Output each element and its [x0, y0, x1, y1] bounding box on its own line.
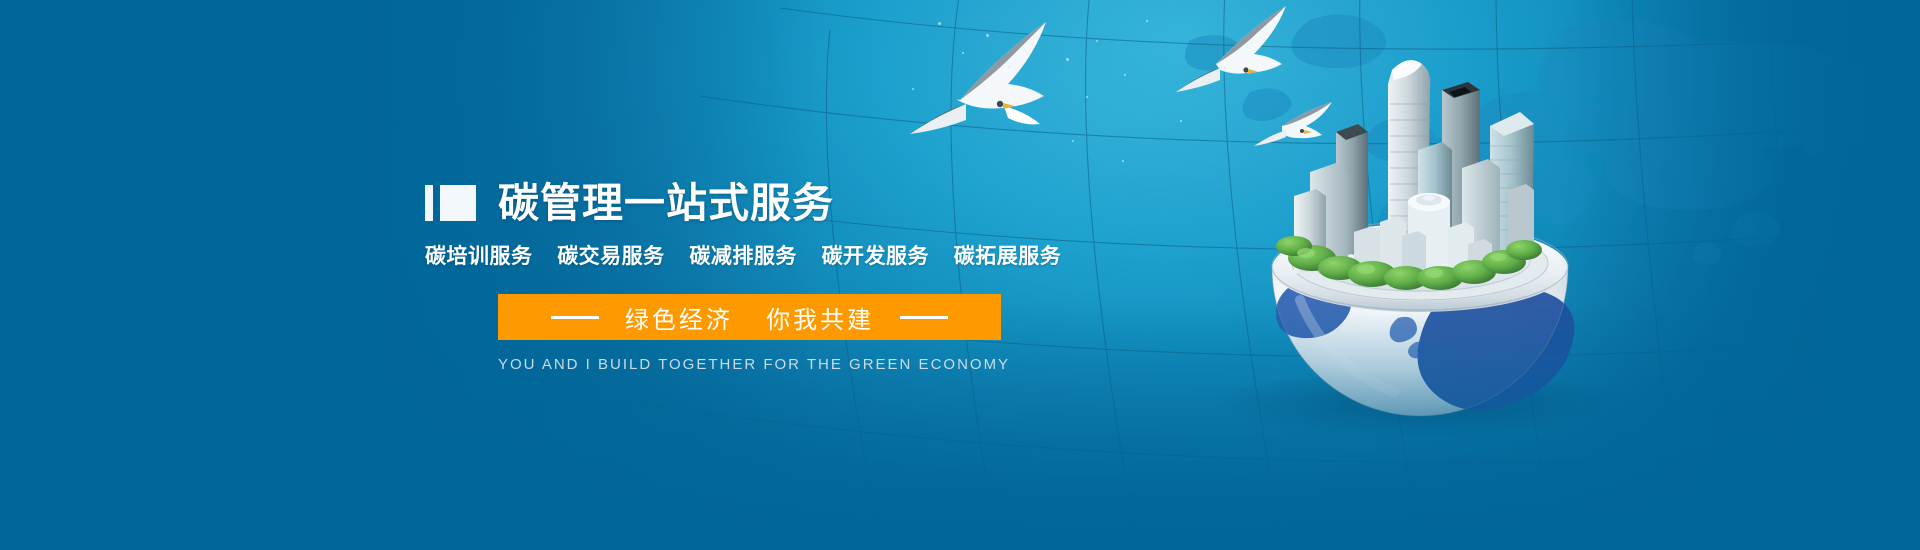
slogan-text: 绿色经济 你我共建 [625, 300, 874, 335]
bar-square-mark-icon [425, 185, 476, 221]
mark-square [440, 185, 476, 221]
headline-row: 碳管理一站式服务 [425, 178, 1045, 228]
service-item-5: 碳拓展服务 [954, 245, 1062, 268]
service-item-4: 碳开发服务 [822, 245, 930, 268]
service-item-3: 碳减排服务 [689, 245, 797, 268]
carbon-management-banner: 碳管理一站式服务 碳培训服务 碳交易服务 碳减排服务 碳开发服务 碳拓展服务 绿… [0, 0, 1920, 550]
mark-bar [425, 185, 433, 221]
slogan-part-1: 绿色经济 [625, 307, 733, 334]
slogan-part-2: 你我共建 [766, 307, 874, 334]
service-list: 碳培训服务 碳交易服务 碳减排服务 碳开发服务 碳拓展服务 [425, 240, 1045, 270]
banner-copy: 碳管理一站式服务 碳培训服务 碳交易服务 碳减排服务 碳开发服务 碳拓展服务 绿… [425, 178, 1045, 373]
right-rule-icon [900, 316, 948, 319]
slogan-banner: 绿色经济 你我共建 [498, 294, 1001, 340]
page-title: 碳管理一站式服务 [498, 183, 834, 224]
service-item-2: 碳交易服务 [557, 245, 665, 268]
left-rule-icon [551, 316, 599, 319]
english-tagline: YOU AND I BUILD TOGETHER FOR THE GREEN E… [498, 356, 1001, 373]
service-item-1: 碳培训服务 [425, 245, 533, 268]
